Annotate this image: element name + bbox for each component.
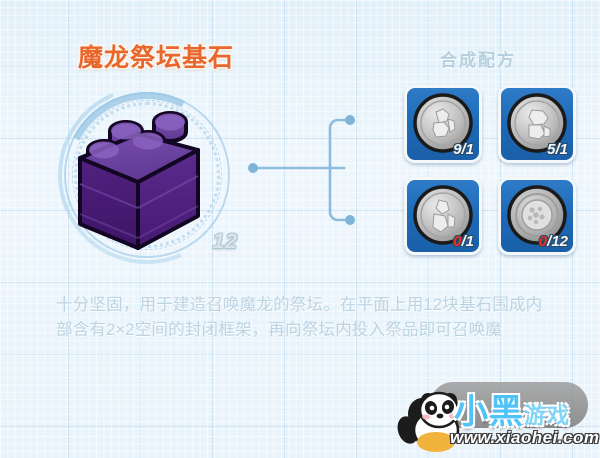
item-description: 十分坚固，用于建造召唤魔龙的祭坛。在平面上用12块基石围成内部含有2×2空间的封… xyxy=(56,293,556,343)
site-watermark: 小黑游戏 www.xiaohei.com xyxy=(392,378,596,454)
slot-count: 0/12 xyxy=(539,233,568,250)
slot-count: 0/1 xyxy=(453,233,474,250)
recipe-connector xyxy=(244,104,364,234)
watermark-brand-suffix: 游戏 xyxy=(524,403,570,428)
item-count-badge: 12 xyxy=(213,230,238,254)
watermark-url: www.xiaohei.com xyxy=(450,428,600,448)
recipe-slot[interactable]: 0/1 xyxy=(404,177,482,255)
item-showcase: 12 xyxy=(58,86,238,266)
slot-need-value: 12 xyxy=(551,233,568,250)
watermark-brand: 小黑游戏 xyxy=(454,384,570,433)
recipe-slot-grid: 9/1 5/1 xyxy=(404,85,576,255)
purple-brick-2x2-icon xyxy=(72,98,224,258)
recipe-slot[interactable]: 0/12 xyxy=(498,177,576,255)
recipe-slot[interactable]: 5/1 xyxy=(498,85,576,163)
page-title: 魔龙祭坛基石 xyxy=(78,38,234,74)
slot-need-value: 1 xyxy=(466,141,474,158)
slot-need-value: 1 xyxy=(466,233,474,250)
recipe-section-title: 合成配方 xyxy=(440,46,516,71)
slot-need-value: 1 xyxy=(560,141,568,158)
slot-count: 5/1 xyxy=(547,141,568,158)
item-detail-screen: 魔龙祭坛基石 xyxy=(0,0,600,458)
slot-count: 9/1 xyxy=(453,141,474,158)
recipe-slot[interactable]: 9/1 xyxy=(404,85,482,163)
slot-have: 0 xyxy=(539,233,547,250)
watermark-brand-main: 小黑 xyxy=(454,393,524,431)
